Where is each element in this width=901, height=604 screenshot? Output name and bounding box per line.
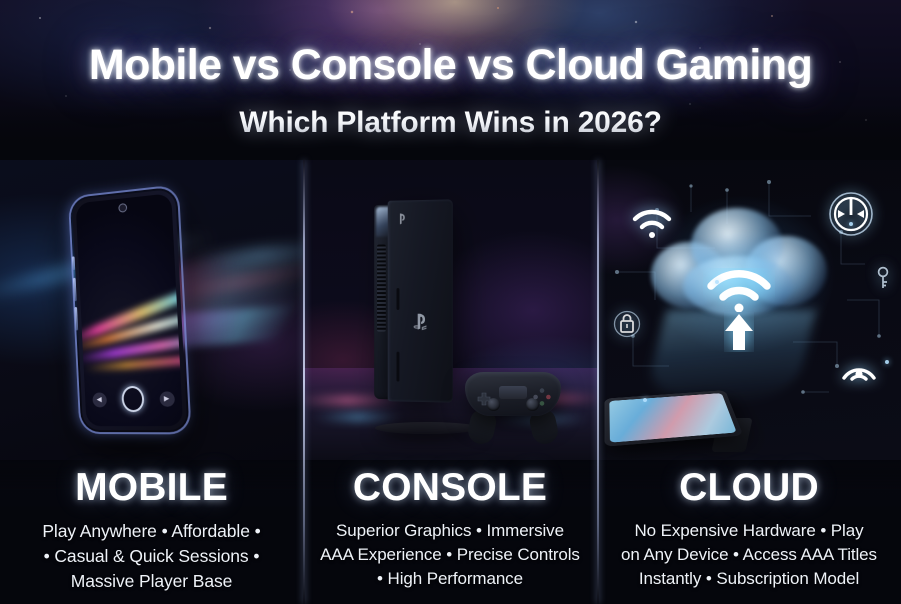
game-controller xyxy=(465,364,561,426)
platform-features-cloud: No Expensive Hardware • Play on Any Devi… xyxy=(605,519,893,591)
feature-line: AAA Experience • Precise Controls xyxy=(311,543,589,567)
feature-line: on Any Device • Access AAA Titles xyxy=(605,543,893,567)
platform-features-console: Superior Graphics • Immersive AAA Experi… xyxy=(311,519,589,591)
playstation-logo-icon xyxy=(396,212,408,226)
feature-line: Massive Player Base xyxy=(8,569,295,594)
mobile-artwork: ◀ ▶ xyxy=(0,160,303,460)
phone-volume-button xyxy=(73,278,77,302)
subtitle-container: Which Platform Wins in 2026? xyxy=(0,108,901,138)
home-circle-icon[interactable] xyxy=(121,386,144,412)
console-port xyxy=(396,352,399,382)
controller-dpad-icon xyxy=(477,392,491,406)
platform-name-console: CONSOLE xyxy=(311,468,589,507)
panel-divider xyxy=(303,160,305,604)
tablet-screen xyxy=(609,393,736,443)
network-node xyxy=(643,398,647,402)
main-title: Mobile vs Console vs Cloud Gaming xyxy=(0,44,901,87)
phone-side-button xyxy=(72,256,75,270)
game-console-device xyxy=(388,199,459,403)
phone-power-button xyxy=(74,307,78,331)
panel-divider xyxy=(597,160,599,604)
smartphone-device: ◀ ▶ xyxy=(70,186,190,432)
panel-mobile[interactable]: ◀ ▶ MOBILE Play Anywhere • Affordable • … xyxy=(0,160,303,604)
phone-camera-icon xyxy=(118,203,127,213)
wifi-icon xyxy=(631,208,673,240)
platform-name-mobile: MOBILE xyxy=(8,468,295,507)
platform-name-cloud: CLOUD xyxy=(605,468,893,507)
console-caption: CONSOLE Superior Graphics • Immersive AA… xyxy=(303,460,597,604)
feature-line: Play Anywhere • Affordable • xyxy=(8,519,295,544)
phone-screen: ◀ ▶ xyxy=(76,193,184,426)
console-front-panel xyxy=(388,199,453,402)
network-node xyxy=(885,360,889,364)
infographic-poster: Mobile vs Console vs Cloud Gaming Which … xyxy=(0,0,901,604)
phone-nav-bar: ◀ ▶ xyxy=(85,385,183,412)
key-icon xyxy=(873,266,893,290)
main-title-container: Mobile vs Console vs Cloud Gaming xyxy=(0,44,901,87)
console-port xyxy=(396,288,399,310)
controller-touchpad xyxy=(499,386,527,399)
broadcast-icon xyxy=(839,348,879,388)
network-node xyxy=(849,222,853,226)
feature-line: No Expensive Hardware • Play xyxy=(605,519,893,543)
forward-arrow-icon[interactable]: ▶ xyxy=(159,391,175,406)
console-stand xyxy=(375,422,479,434)
upload-arrow-icon xyxy=(724,312,754,352)
wifi-icon xyxy=(703,268,775,312)
controller-face-buttons-icon xyxy=(533,388,551,406)
console-vent xyxy=(377,244,386,331)
mobile-caption: MOBILE Play Anywhere • Affordable • • Ca… xyxy=(0,460,303,604)
cloud-artwork xyxy=(597,160,901,460)
platform-panels-row: ◀ ▶ MOBILE Play Anywhere • Affordable • … xyxy=(0,160,901,604)
back-arrow-icon[interactable]: ◀ xyxy=(92,392,107,407)
controller-body xyxy=(465,372,561,416)
feature-line: • High Performance xyxy=(311,567,589,591)
feature-line: Instantly • Subscription Model xyxy=(605,567,893,591)
lock-icon xyxy=(613,310,641,338)
playstation-logo-icon xyxy=(411,312,429,332)
cloud-caption: CLOUD No Expensive Hardware • Play on An… xyxy=(597,460,901,604)
cloud-graphic xyxy=(649,208,829,326)
subtitle: Which Platform Wins in 2026? xyxy=(0,108,901,138)
panel-console[interactable]: CONSOLE Superior Graphics • Immersive AA… xyxy=(303,160,597,604)
feature-line: • Casual & Quick Sessions • xyxy=(8,544,295,569)
latency-ring-icon xyxy=(827,190,875,238)
panel-cloud[interactable]: CLOUD No Expensive Hardware • Play on An… xyxy=(597,160,901,604)
feature-line: Superior Graphics • Immersive xyxy=(311,519,589,543)
console-artwork xyxy=(303,160,597,460)
neon-reflection xyxy=(313,414,403,420)
network-node xyxy=(715,280,719,284)
platform-features-mobile: Play Anywhere • Affordable • • Casual & … xyxy=(8,519,295,594)
